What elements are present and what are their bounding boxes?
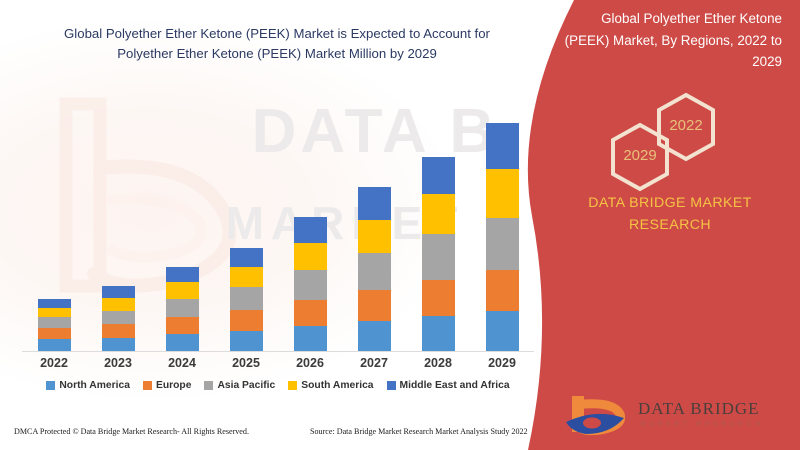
bar-segment[interactable] (422, 280, 455, 317)
bar-segment[interactable] (486, 169, 519, 218)
legend-swatch-icon (288, 381, 297, 390)
bar-segment[interactable] (38, 328, 71, 340)
brand-name: DATA BRIDGE MARKET RESEARCH (580, 192, 760, 236)
x-axis-tick: 2023 (86, 356, 150, 370)
bar-group (22, 100, 86, 351)
bar-group (150, 100, 214, 351)
bar-segment[interactable] (358, 220, 391, 253)
bar-group (406, 100, 470, 351)
bar-segment[interactable] (102, 324, 135, 338)
bar-segment[interactable] (38, 308, 71, 318)
bar-segment[interactable] (38, 339, 71, 351)
bar-segment[interactable] (230, 248, 263, 267)
bar-segment[interactable] (486, 123, 519, 168)
brand-line-1: DATA BRIDGE MARKET (580, 192, 760, 214)
hexagon-2022: 2022 (655, 92, 717, 162)
bar-segment[interactable] (358, 253, 391, 291)
x-axis-tick: 2027 (342, 356, 406, 370)
legend-label: Europe (156, 380, 191, 391)
footer-source: Source: Data Bridge Market Research Mark… (310, 427, 528, 436)
x-axis-baseline (22, 351, 534, 352)
stacked-bar[interactable] (38, 299, 71, 351)
x-axis-tick: 2024 (150, 356, 214, 370)
hexagon-2029-label: 2029 (609, 147, 671, 164)
bar-segment[interactable] (230, 287, 263, 310)
legend-swatch-icon (46, 381, 55, 390)
bar-segment[interactable] (166, 317, 199, 333)
bar-segment[interactable] (486, 311, 519, 351)
bar-segment[interactable] (166, 282, 199, 298)
brand-line-2: RESEARCH (580, 214, 760, 236)
footer: DMCA Protected © Data Bridge Market Rese… (0, 427, 560, 443)
bar-segment[interactable] (294, 217, 327, 243)
chart-legend: North AmericaEuropeAsia PacificSouth Ame… (22, 380, 534, 391)
x-axis-tick: 2022 (22, 356, 86, 370)
footer-copyright: DMCA Protected © Data Bridge Market Rese… (14, 427, 249, 436)
x-axis-labels: 20222023202420252026202720282029 (22, 356, 534, 370)
x-axis-tick: 2029 (470, 356, 534, 370)
bar-group (86, 100, 150, 351)
bar-segment[interactable] (294, 270, 327, 300)
infographic-root: DATA B MARKET R Global Polyether Ether K… (0, 0, 800, 450)
bar-segment[interactable] (294, 300, 327, 326)
bar-segment[interactable] (230, 331, 263, 351)
bar-segment[interactable] (102, 286, 135, 298)
legend-item[interactable]: Europe (143, 380, 191, 391)
data-bridge-logo-icon: DATA BRIDGE MARKET RESEARCH (562, 392, 762, 438)
bar-segment[interactable] (422, 157, 455, 194)
stacked-bar[interactable] (486, 123, 519, 351)
bar-segment[interactable] (166, 334, 199, 351)
right-panel: Global Polyether Ether Ketone (PEEK) Mar… (510, 0, 800, 450)
bar-segment[interactable] (294, 326, 327, 351)
legend-item[interactable]: North America (46, 380, 130, 391)
bar-segment[interactable] (486, 218, 519, 270)
svg-text:DATA BRIDGE: DATA BRIDGE (638, 399, 760, 418)
bar-segment[interactable] (486, 270, 519, 312)
legend-label: Asia Pacific (217, 380, 275, 391)
bar-group (342, 100, 406, 351)
stacked-bar[interactable] (294, 217, 327, 351)
hexagon-2022-label: 2022 (655, 117, 717, 134)
panel-title: Global Polyether Ether Ketone (PEEK) Mar… (556, 8, 782, 73)
legend-label: North America (59, 380, 130, 391)
bar-segment[interactable] (38, 299, 71, 308)
legend-swatch-icon (143, 381, 152, 390)
legend-item[interactable]: Middle East and Africa (387, 380, 510, 391)
bar-segment[interactable] (294, 243, 327, 270)
legend-item[interactable]: South America (288, 380, 373, 391)
bar-segment[interactable] (38, 317, 71, 328)
chart-title: Global Polyether Ether Ketone (PEEK) Mar… (42, 24, 512, 65)
stacked-bar[interactable] (102, 286, 135, 351)
stacked-bar[interactable] (166, 267, 199, 351)
x-axis-tick: 2026 (278, 356, 342, 370)
legend-swatch-icon (204, 381, 213, 390)
bar-series-container (22, 100, 534, 351)
x-axis-tick: 2028 (406, 356, 470, 370)
stacked-bar[interactable] (230, 248, 263, 351)
bar-segment[interactable] (166, 299, 199, 317)
bar-segment[interactable] (422, 194, 455, 235)
bar-segment[interactable] (102, 298, 135, 311)
plot-area (22, 100, 534, 352)
stacked-bar[interactable] (422, 157, 455, 351)
stacked-bar[interactable] (358, 187, 391, 351)
x-axis-tick: 2025 (214, 356, 278, 370)
bar-group (278, 100, 342, 351)
bar-segment[interactable] (230, 267, 263, 287)
legend-item[interactable]: Asia Pacific (204, 380, 275, 391)
red-panel-shape (510, 0, 800, 450)
hexagon-2029: 2029 (609, 122, 671, 192)
svg-text:MARKET RESEARCH: MARKET RESEARCH (640, 421, 762, 428)
legend-label: Middle East and Africa (400, 380, 510, 391)
hexagon-group: 2022 2029 (593, 92, 738, 197)
bar-segment[interactable] (230, 310, 263, 330)
legend-swatch-icon (387, 381, 396, 390)
bar-segment[interactable] (102, 338, 135, 352)
bar-segment[interactable] (422, 316, 455, 351)
bar-group (470, 100, 534, 351)
bar-segment[interactable] (102, 311, 135, 325)
bar-segment[interactable] (422, 234, 455, 279)
bar-segment[interactable] (358, 187, 391, 220)
bar-segment[interactable] (358, 321, 391, 351)
bar-segment[interactable] (358, 290, 391, 321)
legend-label: South America (301, 380, 373, 391)
bar-segment[interactable] (166, 267, 199, 282)
bar-group (214, 100, 278, 351)
